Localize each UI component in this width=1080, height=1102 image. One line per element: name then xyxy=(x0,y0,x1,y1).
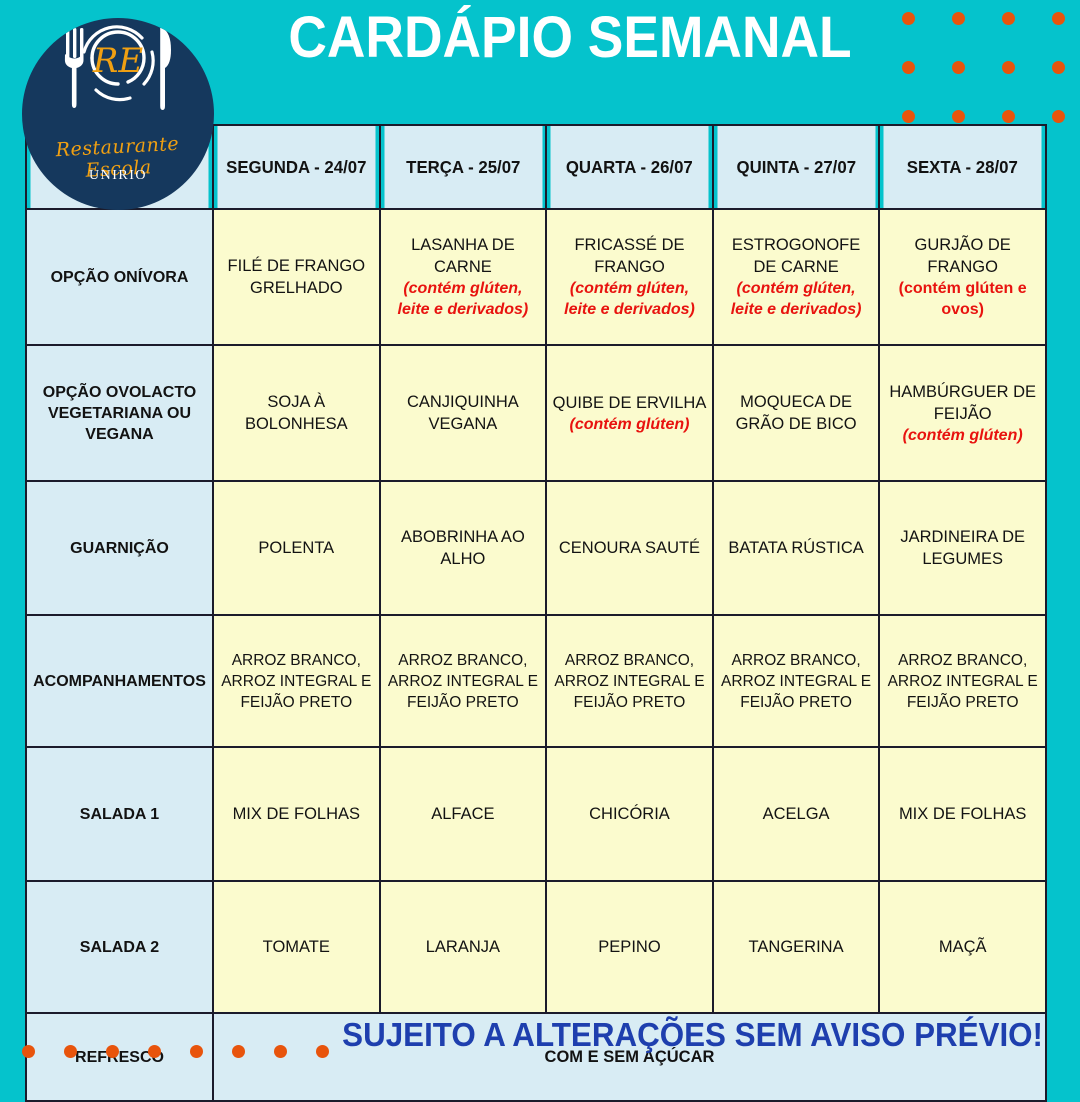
dish-name: MOQUECA DE GRÃO DE BICO xyxy=(736,393,857,433)
menu-cell: ABOBRINHA AO ALHO xyxy=(380,481,547,615)
menu-cell: MAÇÃ xyxy=(879,881,1046,1013)
dish-name: BATATA RÚSTICA xyxy=(728,539,863,557)
restaurant-logo: RE Restaurante Escola UNIRIO xyxy=(22,18,214,210)
dish-name: ARROZ BRANCO, ARROZ INTEGRAL E FEIJÃO PR… xyxy=(221,652,371,711)
dot xyxy=(106,1045,119,1058)
menu-cell: QUIBE DE ERVILHA(contém glúten) xyxy=(546,345,713,481)
dot xyxy=(1052,110,1065,123)
day-header-segunda: SEGUNDA - 24/07 xyxy=(216,125,376,209)
cutlery-plate-icon: RE xyxy=(22,18,214,122)
weekly-menu-table: SEGUNDA - 24/07 TERÇA - 25/07 QUARTA - 2… xyxy=(25,124,1047,1102)
dot xyxy=(902,61,915,74)
dish-name: MAÇÃ xyxy=(939,938,987,956)
dish-name: ARROZ BRANCO, ARROZ INTEGRAL E FEIJÃO PR… xyxy=(554,652,704,711)
menu-cell: ESTROGONOFE DE CARNE(contém glúten, leit… xyxy=(713,209,880,345)
dish-name: FILÉ DE FRANGO GRELHADO xyxy=(228,257,366,297)
menu-cell: ARROZ BRANCO, ARROZ INTEGRAL E FEIJÃO PR… xyxy=(546,615,713,747)
menu-cell: CENOURA SAUTÉ xyxy=(546,481,713,615)
dish-name: ABOBRINHA AO ALHO xyxy=(401,528,525,568)
menu-cell: GURJÃO DE FRANGO(contém glúten e ovos) xyxy=(879,209,1046,345)
menu-cell: TOMATE xyxy=(213,881,380,1013)
dot xyxy=(902,110,915,123)
menu-cell: SOJA À BOLONHESA xyxy=(213,345,380,481)
menu-cell: MIX DE FOLHAS xyxy=(879,747,1046,881)
menu-cell: HAMBÚRGUER DE FEIJÃO(contém glúten) xyxy=(879,345,1046,481)
menu-cell: FRICASSÉ DE FRANGO(contém glúten, leite … xyxy=(546,209,713,345)
dot xyxy=(316,1045,329,1058)
dish-name: TANGERINA xyxy=(749,938,844,956)
allergen-warning: (contém glúten, leite e derivados) xyxy=(386,278,541,320)
menu-cell: ARROZ BRANCO, ARROZ INTEGRAL E FEIJÃO PR… xyxy=(879,615,1046,747)
page-title: CARDÁPIO SEMANAL xyxy=(276,6,865,70)
table-row: GUARNIÇÃO POLENTA ABOBRINHA AO ALHO CENO… xyxy=(26,481,1046,615)
menu-cell: JARDINEIRA DE LEGUMES xyxy=(879,481,1046,615)
allergen-warning: (contém glúten, leite e derivados) xyxy=(719,278,874,320)
dish-name: TOMATE xyxy=(263,938,330,956)
dish-name: SOJA À BOLONHESA xyxy=(245,393,348,433)
dish-name: ESTROGONOFE DE CARNE xyxy=(732,236,860,276)
table-row: ACOMPANHAMENTOS ARROZ BRANCO, ARROZ INTE… xyxy=(26,615,1046,747)
table-row: OPÇÃO ONÍVORA FILÉ DE FRANGO GRELHADO LA… xyxy=(26,209,1046,345)
menu-cell: LARANJA xyxy=(380,881,547,1013)
dish-name: ALFACE xyxy=(431,805,494,823)
dot xyxy=(232,1045,245,1058)
dot xyxy=(190,1045,203,1058)
dot xyxy=(22,1045,35,1058)
menu-cell: ARROZ BRANCO, ARROZ INTEGRAL E FEIJÃO PR… xyxy=(380,615,547,747)
menu-cell: ALFACE xyxy=(380,747,547,881)
decorative-dot-row-bottom xyxy=(22,1045,329,1058)
dish-name: MIX DE FOLHAS xyxy=(233,805,360,823)
dish-name: ARROZ BRANCO, ARROZ INTEGRAL E FEIJÃO PR… xyxy=(888,652,1038,711)
day-header-quarta: QUARTA - 26/07 xyxy=(550,125,710,209)
dot xyxy=(1002,110,1015,123)
dish-name: CHICÓRIA xyxy=(589,805,670,823)
menu-cell: PEPINO xyxy=(546,881,713,1013)
menu-cell: MIX DE FOLHAS xyxy=(213,747,380,881)
dish-name: HAMBÚRGUER DE FEIJÃO xyxy=(889,383,1036,423)
decorative-dot-grid-top xyxy=(902,12,1065,123)
dish-name: PEPINO xyxy=(598,938,660,956)
allergen-warning: (contém glúten e ovos) xyxy=(885,278,1040,320)
day-header-quinta: QUINTA - 27/07 xyxy=(716,125,876,209)
dish-name: CENOURA SAUTÉ xyxy=(559,539,700,557)
table-row: SALADA 1 MIX DE FOLHAS ALFACE CHICÓRIA A… xyxy=(26,747,1046,881)
svg-text:RE: RE xyxy=(92,41,144,81)
table-row: OPÇÃO OVOLACTO VEGETARIANA OU VEGANA SOJ… xyxy=(26,345,1046,481)
row-label-acompanhamentos: ACOMPANHAMENTOS xyxy=(26,615,213,747)
menu-cell: BATATA RÚSTICA xyxy=(713,481,880,615)
dish-name: GURJÃO DE FRANGO xyxy=(915,236,1011,276)
dish-name: QUIBE DE ERVILHA xyxy=(553,394,707,412)
dot xyxy=(1052,12,1065,25)
dot xyxy=(274,1045,287,1058)
day-header-terca: TERÇA - 25/07 xyxy=(383,125,543,209)
dish-name: ARROZ BRANCO, ARROZ INTEGRAL E FEIJÃO PR… xyxy=(388,652,538,711)
table-row: SALADA 2 TOMATE LARANJA PEPINO TANGERINA… xyxy=(26,881,1046,1013)
dot xyxy=(1052,61,1065,74)
dish-name: ACELGA xyxy=(763,805,830,823)
logo-institution-text: UNIRIO xyxy=(22,168,214,184)
dot xyxy=(148,1045,161,1058)
row-label-salada-1: SALADA 1 xyxy=(26,747,213,881)
allergen-warning: (contém glúten) xyxy=(885,425,1040,446)
dish-name: ARROZ BRANCO, ARROZ INTEGRAL E FEIJÃO PR… xyxy=(721,652,871,711)
allergen-warning: (contém glúten, leite e derivados) xyxy=(552,278,707,320)
dish-name: LASANHA DE CARNE xyxy=(411,236,515,276)
row-label-guarnicao: GUARNIÇÃO xyxy=(26,481,213,615)
dish-name: CANJIQUINHA VEGANA xyxy=(407,393,519,433)
dot xyxy=(952,12,965,25)
dot xyxy=(952,110,965,123)
menu-cell: MOQUECA DE GRÃO DE BICO xyxy=(713,345,880,481)
dot xyxy=(1002,61,1015,74)
dot xyxy=(902,12,915,25)
menu-cell: FILÉ DE FRANGO GRELHADO xyxy=(213,209,380,345)
menu-cell: CHICÓRIA xyxy=(546,747,713,881)
menu-cell: ARROZ BRANCO, ARROZ INTEGRAL E FEIJÃO PR… xyxy=(713,615,880,747)
menu-cell: CANJIQUINHA VEGANA xyxy=(380,345,547,481)
day-header-sexta: SEXTA - 28/07 xyxy=(883,125,1043,209)
dish-name: JARDINEIRA DE LEGUMES xyxy=(900,528,1025,568)
dot xyxy=(1002,12,1015,25)
row-label-salada-2: SALADA 2 xyxy=(26,881,213,1013)
allergen-warning: (contém glúten) xyxy=(552,414,707,435)
dish-name: POLENTA xyxy=(258,539,334,557)
dot xyxy=(952,61,965,74)
menu-cell: TANGERINA xyxy=(713,881,880,1013)
dish-name: MIX DE FOLHAS xyxy=(899,805,1026,823)
menu-cell: ARROZ BRANCO, ARROZ INTEGRAL E FEIJÃO PR… xyxy=(213,615,380,747)
menu-cell: LASANHA DE CARNE(contém glúten, leite e … xyxy=(380,209,547,345)
row-label-onivora: OPÇÃO ONÍVORA xyxy=(26,209,213,345)
row-label-vegetariana: OPÇÃO OVOLACTO VEGETARIANA OU VEGANA xyxy=(26,345,213,481)
dish-name: FRICASSÉ DE FRANGO xyxy=(574,236,684,276)
menu-cell: POLENTA xyxy=(213,481,380,615)
dot xyxy=(64,1045,77,1058)
dish-name: LARANJA xyxy=(426,938,500,956)
menu-cell: ACELGA xyxy=(713,747,880,881)
